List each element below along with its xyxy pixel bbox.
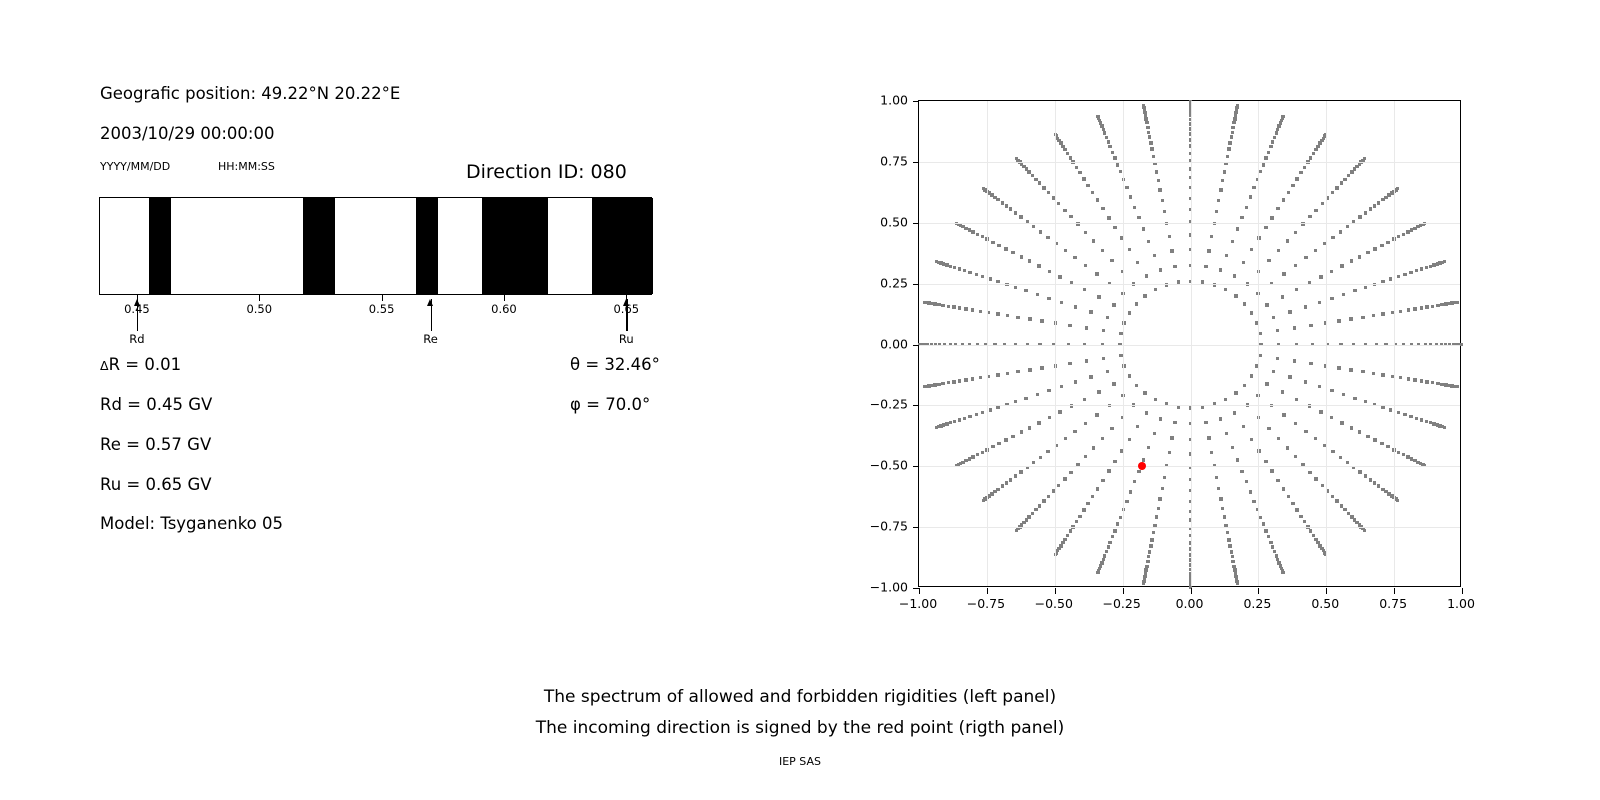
- x-axis-tick-label: 0.00: [1176, 596, 1204, 611]
- direction-grid-point: [1440, 303, 1443, 306]
- direction-grid-point: [1364, 286, 1367, 289]
- direction-grid-point: [1380, 244, 1383, 247]
- direction-grid-point: [1168, 235, 1171, 238]
- direction-grid-point: [1075, 166, 1078, 169]
- direction-grid-point: [1084, 231, 1087, 234]
- direction-grid-point: [1147, 446, 1150, 449]
- direction-grid-point: [1040, 319, 1043, 322]
- direction-grid-point: [976, 453, 979, 456]
- direction-grid-point: [1112, 382, 1115, 385]
- direction-grid-point: [1113, 156, 1116, 159]
- direction-grid-point: [1145, 274, 1148, 277]
- direction-grid-point: [1303, 166, 1306, 169]
- direction-grid-point: [1396, 187, 1399, 190]
- direction-grid-point: [1264, 156, 1267, 159]
- direction-grid-point: [1399, 310, 1402, 313]
- direction-grid-point: [1142, 227, 1145, 230]
- direction-grid-point: [1039, 456, 1042, 459]
- direction-grid-point: [1039, 230, 1042, 233]
- direction-grid-point: [1236, 582, 1239, 585]
- direction-grid-point: [1148, 550, 1151, 553]
- direction-grid-point: [991, 445, 994, 448]
- direction-grid-point: [1269, 145, 1272, 148]
- direction-grid-point: [1340, 421, 1343, 424]
- direction-grid-point: [1042, 186, 1045, 189]
- direction-grid-point: [1318, 301, 1321, 304]
- direction-grid-point: [1231, 446, 1234, 449]
- direction-grid-point: [1217, 487, 1220, 490]
- direction-grid-point: [1100, 124, 1103, 127]
- direction-grid-point: [997, 244, 1000, 247]
- direction-grid-point: [1058, 275, 1061, 278]
- direction-grid-point: [1281, 115, 1284, 118]
- gridline-vertical: [1191, 101, 1192, 586]
- direction-grid-point: [1020, 430, 1023, 433]
- direction-grid-point: [1346, 461, 1349, 464]
- direction-grid-point: [1303, 520, 1306, 523]
- direction-grid-point: [1364, 400, 1367, 403]
- y-axis-tick-label: −0.25: [870, 397, 908, 412]
- direction-grid-point: [1157, 179, 1160, 182]
- direction-grid-point: [1014, 474, 1017, 477]
- direction-grid-point: [1102, 329, 1105, 332]
- direction-grid-point: [1295, 508, 1298, 511]
- rigidity-axis-tick-label: 0.60: [491, 302, 517, 316]
- direction-grid-point: [1016, 370, 1019, 373]
- direction-grid-point: [1128, 248, 1131, 251]
- direction-grid-point: [1047, 495, 1050, 498]
- direction-grid-point: [1250, 248, 1253, 251]
- direction-grid-point: [1146, 126, 1149, 129]
- direction-grid-point: [1399, 376, 1402, 379]
- direction-grid-point: [979, 376, 982, 379]
- direction-grid-point: [1271, 545, 1274, 548]
- direction-grid-point: [1066, 534, 1069, 537]
- direction-grid-point: [1032, 225, 1035, 228]
- direction-grid-point: [1028, 368, 1031, 371]
- direction-grid-point: [1361, 370, 1364, 373]
- direction-grid-point: [1224, 288, 1227, 291]
- direction-grid-point: [1204, 265, 1207, 268]
- direction-grid-point: [1223, 170, 1226, 173]
- direction-grid-point: [937, 383, 940, 386]
- direction-grid-point: [1163, 476, 1166, 479]
- x-axis-tick-label: 0.75: [1379, 596, 1407, 611]
- y-axis-tick: [913, 405, 919, 406]
- x-axis-tick-label: 0.25: [1243, 596, 1271, 611]
- direction-grid-point: [1372, 372, 1375, 375]
- direction-grid-point: [1011, 251, 1014, 254]
- direction-grid-point: [1125, 186, 1128, 189]
- rigidity-axis-tick: [504, 295, 505, 301]
- direction-grid-point: [1314, 477, 1317, 480]
- direction-grid-point: [1276, 128, 1279, 131]
- direction-grid-point: [1264, 460, 1267, 463]
- direction-grid-point: [1373, 438, 1376, 441]
- direction-grid-point: [1358, 215, 1361, 218]
- direction-grid-point: [1276, 329, 1279, 332]
- direction-grid-point: [1024, 397, 1027, 400]
- direction-grid-point: [1116, 522, 1119, 525]
- direction-grid-point: [1295, 398, 1298, 401]
- direction-grid-point: [1078, 171, 1081, 174]
- direction-grid-point: [1287, 191, 1290, 194]
- rigidity-axis: 0.450.500.550.600.65RdReRu: [99, 295, 652, 296]
- direction-grid-point: [1149, 141, 1152, 144]
- direction-grid-point: [1420, 379, 1423, 382]
- direction-grid-point: [1152, 531, 1155, 534]
- direction-grid-point: [964, 378, 967, 381]
- direction-grid-point: [1111, 151, 1114, 154]
- direction-grid-point: [1314, 249, 1317, 252]
- x-axis-tick-label: −0.75: [967, 596, 1005, 611]
- direction-grid-point: [1294, 422, 1297, 425]
- direction-grid-point: [1219, 497, 1222, 500]
- direction-grid-point: [1063, 477, 1066, 480]
- direction-grid-point: [1001, 484, 1004, 487]
- x-axis-tick-label: −0.50: [1035, 596, 1073, 611]
- direction-grid-point: [1091, 191, 1094, 194]
- direction-grid-point: [1015, 157, 1018, 160]
- rigidity-axis-tick: [382, 295, 383, 301]
- direction-grid-point: [1106, 370, 1109, 373]
- direction-grid-point: [1340, 181, 1343, 184]
- time-format-hint: HH:MM:SS: [218, 160, 275, 173]
- direction-grid-point: [1230, 135, 1233, 138]
- direction-grid-point: [1366, 251, 1369, 254]
- direction-grid-point: [1063, 148, 1066, 151]
- direction-grid-point: [1136, 425, 1139, 428]
- direction-grid-point: [1125, 500, 1128, 503]
- direction-grid-point: [1346, 225, 1349, 228]
- direction-grid-point: [1272, 316, 1275, 319]
- direction-grid-point: [1207, 436, 1210, 439]
- direction-grid-point: [1063, 209, 1066, 212]
- direction-grid-point: [1066, 152, 1069, 155]
- rigidity-marker-label: Rd: [129, 332, 144, 346]
- marker-arrowhead: [427, 299, 433, 306]
- direction-grid-point: [1291, 184, 1294, 187]
- direction-grid-point: [1293, 359, 1296, 362]
- direction-grid-point: [1060, 301, 1063, 304]
- direction-grid-point: [1084, 264, 1087, 267]
- direction-grid-point: [964, 307, 967, 310]
- direction-grid-point: [1061, 145, 1064, 148]
- direction-grid-point: [952, 305, 955, 308]
- rigidity-spectrum-bar: [99, 197, 652, 295]
- direction-grid-point: [1236, 104, 1239, 107]
- x-axis-tick: [1258, 588, 1259, 594]
- direction-grid-point: [1294, 455, 1297, 458]
- direction-grid-point: [1219, 268, 1222, 271]
- direction-grid-point: [1095, 413, 1098, 416]
- direction-grid-point: [1210, 451, 1213, 454]
- direction-grid-point: [1069, 529, 1072, 532]
- direction-grid-point: [1377, 201, 1380, 204]
- direction-grid-point: [1014, 400, 1017, 403]
- direction-grid-point: [1372, 314, 1375, 317]
- direction-grid-point: [1286, 239, 1289, 242]
- direction-grid-point: [968, 457, 971, 460]
- direction-grid-point: [971, 308, 974, 311]
- direction-grid-point: [1155, 170, 1158, 173]
- direction-grid-point: [1267, 151, 1270, 154]
- model-name: Model: Tsyganenko 05: [100, 514, 283, 533]
- direction-grid-point: [1321, 484, 1324, 487]
- direction-grid-point: [1276, 479, 1279, 482]
- direction-grid-point: [935, 260, 938, 263]
- direction-grid-point: [1361, 316, 1364, 319]
- direction-grid-point: [1136, 261, 1139, 264]
- direction-grid-point: [963, 417, 966, 420]
- direction-grid-point: [1413, 307, 1416, 310]
- direction-grid-point: [1016, 316, 1019, 319]
- direction-grid-point: [1096, 571, 1099, 574]
- direction-grid-point: [1288, 375, 1291, 378]
- direction-grid-point: [1101, 207, 1104, 210]
- direction-grid-point: [1085, 326, 1088, 329]
- direction-grid-point: [1350, 426, 1353, 429]
- direction-grid-point: [1455, 385, 1458, 388]
- direction-grid-point: [1337, 366, 1340, 369]
- direction-grid-point: [1032, 461, 1035, 464]
- direction-grid-point: [1225, 254, 1228, 257]
- direction-grid-point: [1358, 255, 1361, 258]
- direction-grid-point: [1304, 380, 1307, 383]
- direction-grid-point: [1308, 471, 1311, 474]
- direction-grid-point: [1277, 249, 1280, 252]
- gridline-horizontal: [919, 527, 1460, 528]
- direction-grid-point: [1113, 529, 1116, 532]
- direction-grid-point: [1436, 304, 1439, 307]
- direction-grid-point: [1170, 436, 1173, 439]
- direction-grid-point: [1319, 275, 1322, 278]
- direction-grid-point: [1108, 541, 1111, 544]
- direction-grid-point: [958, 306, 961, 309]
- direction-grid-point: [1314, 209, 1317, 212]
- direction-grid-point: [1259, 170, 1262, 173]
- direction-grid-point: [1113, 460, 1116, 463]
- direction-grid-point: [1161, 487, 1164, 490]
- direction-id-label: Direction ID: 080: [466, 161, 627, 183]
- direction-grid-point: [1234, 391, 1237, 394]
- direction-grid-point: [1308, 215, 1311, 218]
- forbidden-band: [416, 198, 438, 294]
- direction-grid-point: [1078, 515, 1081, 518]
- direction-grid-point: [1092, 446, 1095, 449]
- direction-grid-point: [1144, 114, 1147, 117]
- direction-grid-point: [1245, 206, 1248, 209]
- direction-grid-point: [1129, 195, 1132, 198]
- direction-grid-point: [1373, 204, 1376, 207]
- direction-grid-point: [1330, 297, 1333, 300]
- direction-grid-point: [1234, 114, 1237, 117]
- direction-grid-point: [1145, 411, 1148, 414]
- direction-grid-point: [1083, 398, 1086, 401]
- direction-grid-point: [1068, 362, 1071, 365]
- gridline-vertical: [1326, 101, 1327, 586]
- direction-grid-point: [923, 385, 926, 388]
- forbidden-band: [303, 198, 335, 294]
- y-axis-tick: [913, 162, 919, 163]
- direction-grid-point: [1219, 417, 1222, 420]
- direction-grid-point: [1159, 268, 1162, 271]
- direction-grid-point: [1231, 131, 1234, 134]
- direction-grid-point: [1231, 555, 1234, 558]
- direction-grid-point: [1252, 186, 1255, 189]
- direction-grid-point: [1128, 438, 1131, 441]
- y-axis-tick-label: 0.75: [880, 153, 908, 168]
- date-format-hint: YYYY/MM/DD: [100, 160, 170, 173]
- direction-grid-point: [1102, 128, 1105, 131]
- direction-grid-point: [1415, 269, 1418, 272]
- direction-grid-point: [1380, 442, 1383, 445]
- direction-grid-point: [1282, 198, 1285, 201]
- direction-grid-point: [1250, 311, 1253, 314]
- direction-grid-point: [1009, 478, 1012, 481]
- direction-grid-point: [1402, 233, 1405, 236]
- direction-grid-point: [1273, 550, 1276, 553]
- rigidity-spectrum-panel: Geografic position: 49.22°N 20.22°E 2003…: [0, 0, 760, 680]
- direction-grid-point: [953, 266, 956, 269]
- direction-grid-point: [996, 198, 999, 201]
- direction-grid-point: [1142, 458, 1145, 461]
- direction-grid-point: [1046, 450, 1049, 453]
- direction-grid-point: [1312, 152, 1315, 155]
- direction-grid-point: [1304, 430, 1307, 433]
- direction-grid-point: [1363, 529, 1366, 532]
- y-axis-tick: [913, 466, 919, 467]
- x-axis-tick-label: −0.25: [1102, 596, 1140, 611]
- direction-grid-point: [1153, 254, 1156, 257]
- direction-grid-point: [1233, 274, 1236, 277]
- direction-grid-point: [1142, 104, 1145, 107]
- direction-grid-point: [1262, 522, 1265, 525]
- direction-grid-point: [1101, 437, 1104, 440]
- direction-grid-point: [1110, 427, 1113, 430]
- direction-grid-point: [1147, 240, 1150, 243]
- direction-grid-point: [1230, 550, 1233, 553]
- direction-grid-point: [1288, 310, 1291, 313]
- direction-grid-point: [971, 377, 974, 380]
- direction-grid-point: [1133, 206, 1136, 209]
- direction-grid-point: [1331, 236, 1334, 239]
- direction-grid-point: [1265, 303, 1268, 306]
- direction-grid-point: [1048, 270, 1051, 273]
- direction-grid-point: [1221, 179, 1224, 182]
- direction-grid-point: [1234, 294, 1237, 297]
- direction-grid-point: [971, 230, 974, 233]
- direction-grid-point: [935, 426, 938, 429]
- direction-grid-point: [1006, 372, 1009, 375]
- direction-grid-point: [989, 277, 992, 280]
- direction-grid-point: [1128, 374, 1131, 377]
- x-axis-tick-label: 1.00: [1447, 596, 1475, 611]
- direction-grid-point: [1364, 211, 1367, 214]
- direction-grid-point: [1101, 249, 1104, 252]
- direction-grid-point: [1330, 389, 1333, 392]
- direction-grid-point: [1040, 366, 1043, 369]
- ru-value: Ru = 0.65 GV: [100, 475, 212, 494]
- direction-grid-point: [1331, 495, 1334, 498]
- direction-grid-point: [1060, 385, 1063, 388]
- direction-grid-point: [1073, 256, 1076, 259]
- direction-grid-point: [1273, 136, 1276, 139]
- direction-grid-point: [1287, 495, 1290, 498]
- x-axis-tick: [919, 588, 920, 594]
- direction-grid-point: [1116, 163, 1119, 166]
- direction-grid-point: [1381, 373, 1384, 376]
- direction-grid-point: [1381, 312, 1384, 315]
- direction-grid-point: [1112, 303, 1115, 306]
- direction-grid-point: [1036, 293, 1039, 296]
- direction-grid-point: [1240, 216, 1243, 219]
- forbidden-band: [592, 198, 653, 294]
- direction-grid-point: [1455, 301, 1458, 304]
- direction-grid-point: [1036, 393, 1039, 396]
- direction-grid-point: [1347, 174, 1350, 177]
- direction-grid-point: [1074, 380, 1077, 383]
- geographic-position-label: Geografic position: 49.22°N 20.22°E: [100, 84, 400, 103]
- direction-grid-point: [1101, 479, 1104, 482]
- direction-grid-point: [1409, 415, 1412, 418]
- direction-grid-point: [1047, 297, 1050, 300]
- direction-grid-point: [1440, 383, 1443, 386]
- y-axis-tick: [913, 345, 919, 346]
- direction-grid-point: [1233, 411, 1236, 414]
- direction-grid-point: [1047, 191, 1050, 194]
- direction-grid-point: [993, 490, 996, 493]
- direction-grid-point: [937, 303, 940, 306]
- direction-grid-point: [1389, 408, 1392, 411]
- direction-grid-point: [1147, 131, 1150, 134]
- direction-grid-point: [964, 227, 967, 230]
- direction-grid-point: [1431, 305, 1434, 308]
- direction-grid-point: [1275, 131, 1278, 134]
- y-axis-tick-label: 0.50: [880, 214, 908, 229]
- direction-grid-point: [1270, 469, 1273, 472]
- direction-grid-point: [1064, 249, 1067, 252]
- direction-grid-point: [1282, 272, 1285, 275]
- direction-grid-point: [1369, 478, 1372, 481]
- y-axis-tick-label: 1.00: [880, 93, 908, 108]
- direction-grid-point: [1407, 377, 1410, 380]
- direction-grid-point: [1281, 390, 1284, 393]
- direction-grid-point: [1037, 264, 1040, 267]
- direction-grid-point: [1020, 255, 1023, 258]
- direction-grid-point: [1397, 235, 1400, 238]
- direction-grid-point: [993, 196, 996, 199]
- direction-grid-point: [1243, 302, 1246, 305]
- direction-grid-point: [1110, 259, 1113, 262]
- marker-arrowhead: [134, 299, 140, 306]
- direction-grid-point: [1154, 398, 1157, 401]
- direction-grid-point: [1403, 273, 1406, 276]
- direction-grid-point: [1019, 470, 1022, 473]
- direction-grid-point: [1133, 480, 1136, 483]
- direction-grid-point: [1276, 207, 1279, 210]
- direction-grid-point: [949, 421, 952, 424]
- direction-grid-point: [981, 451, 984, 454]
- direction-grid-point: [1108, 145, 1111, 148]
- direction-grid-point: [1085, 359, 1088, 362]
- direction-grid-point: [1170, 249, 1173, 252]
- direction-grid-point: [1396, 499, 1399, 502]
- direction-grid-point: [1107, 140, 1110, 143]
- direction-grid-point: [1233, 117, 1236, 120]
- direction-grid-point: [1282, 487, 1285, 490]
- direction-grid-point: [1339, 230, 1342, 233]
